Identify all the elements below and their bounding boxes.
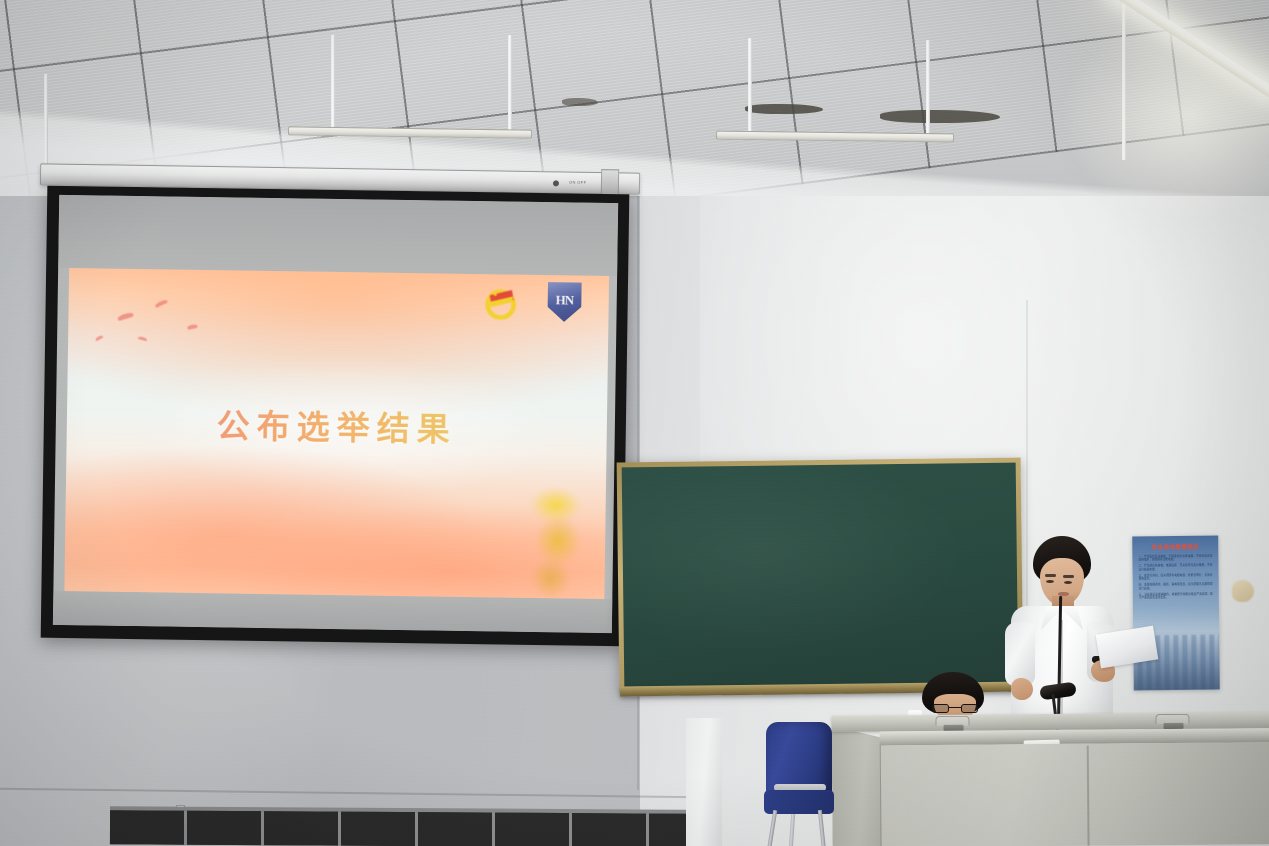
poster-title: 安全用电管理规定 (1138, 543, 1212, 552)
screen-housing-label: ON OFF (569, 180, 587, 185)
light-hanger-rod-5 (1122, 0, 1126, 160)
poster-paragraph-4: 四、发现电线老化、破损、漏电等隐患，应立即报告后勤管理部门处理。 (1139, 583, 1213, 591)
wainscot-tiles (110, 810, 686, 846)
light-hanger-rod-2 (508, 35, 512, 130)
eyeglass-lens-right (961, 704, 978, 713)
blue-chair (764, 722, 836, 846)
hn-university-shield-icon: HN (547, 282, 582, 322)
screen-top-band (58, 195, 618, 276)
wall-mounted-object (1232, 580, 1254, 602)
bird-icon-2 (155, 299, 168, 308)
speaker-arm-left (1005, 622, 1035, 686)
classroom-photo-scene: ON OFF (0, 0, 1269, 846)
poster-paragraph-3: 三、离开房间时，应关闭所有电器电源，杜绝长明灯、长流水现象发生。 (1139, 573, 1213, 581)
light-hanger-rod-3 (748, 38, 752, 133)
chair-leg-right (818, 810, 826, 846)
slide-title: 公布选举结果 (67, 397, 607, 453)
speaker-eyebrow-left (1045, 574, 1056, 577)
speaker-hand-left (1011, 678, 1033, 700)
bird-icon-3 (187, 324, 197, 329)
lectern-front-panel (880, 742, 1269, 846)
poster-paragraph-2: 二、严禁超负荷用电，电源插座、开关损坏应及时报修，不得自行拆装修理。 (1138, 564, 1212, 572)
hn-shield-text: HN (556, 292, 574, 308)
presentation-slide: HN 公布选举结果 (65, 268, 609, 598)
lectern-desk (831, 712, 1269, 846)
bird-icon-4 (95, 335, 103, 342)
eyeglasses-icon (932, 704, 978, 713)
guardian-lion-statue-icon (506, 486, 600, 599)
eyeglass-bridge (949, 707, 961, 708)
blackboard (617, 458, 1024, 693)
speaker-eye-right (1064, 581, 1072, 584)
wall-poster: 安全用电管理规定 一、严禁私拉乱接电线，不得使用大功率电器，不得在宿舍内使用电炉… (1132, 536, 1220, 691)
bird-icon-1 (117, 312, 134, 321)
poster-paragraph-1: 一、严禁私拉乱接电线，不得使用大功率电器，不得在宿舍内使用电炉、热得快等违章电器… (1138, 555, 1212, 563)
chair-leg-left (767, 810, 778, 846)
communist-youth-league-emblem-icon (481, 282, 520, 320)
light-hanger-rod-4 (926, 40, 930, 135)
projection-screen[interactable]: HN 公布选举结果 (41, 186, 630, 647)
blackboard-surface (622, 463, 1019, 689)
screen-mount-bracket (601, 169, 619, 195)
screen-canvas: HN 公布选举结果 (53, 195, 618, 633)
speaker-eyebrow-right (1063, 575, 1074, 578)
chair-leg-mid (789, 814, 795, 846)
bird-icon-5 (138, 336, 147, 341)
lectern-left-panel (832, 725, 883, 846)
eyeglass-lens-left (932, 704, 949, 713)
poster-paragraph-5: 五、违反规定造成事故的，将依照学校相关规定严肃处理，情节严重者追究法律责任。 (1139, 592, 1213, 600)
light-hanger-rod-1 (331, 35, 335, 130)
hn-shield-shape: HN (547, 282, 582, 322)
wall-pillar-right (686, 718, 722, 846)
screen-control-knob[interactable] (553, 180, 559, 186)
speaker-eye-left (1046, 580, 1054, 583)
